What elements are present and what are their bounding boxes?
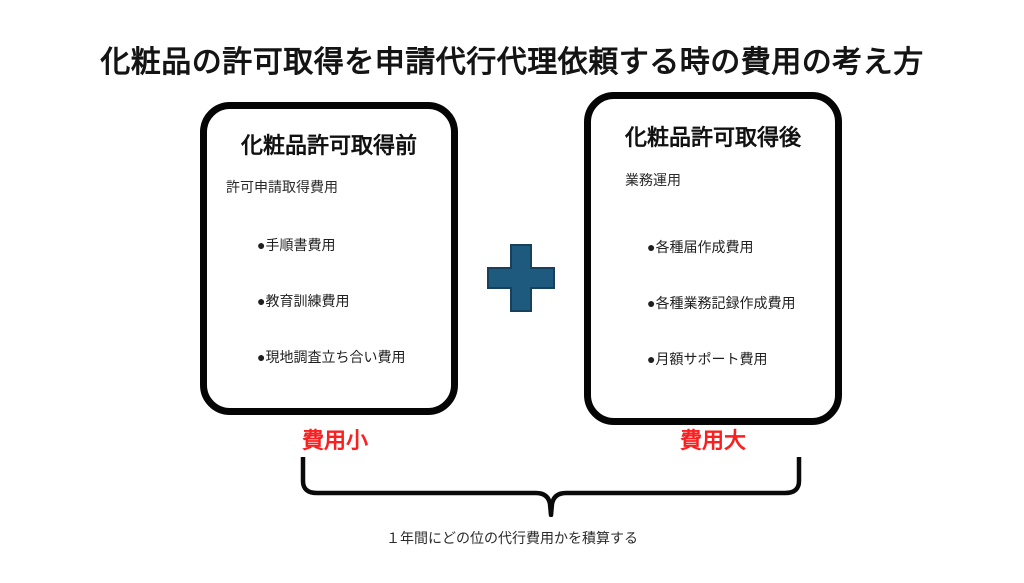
- panel-before-heading: 化粧品許可取得前: [207, 132, 451, 160]
- panel-before-subtitle: 許可申請取得費用: [226, 179, 338, 199]
- list-item: ●各種届作成費用: [591, 239, 835, 295]
- panel-after-approval: 化粧品許可取得後 業務運用 ●各種届作成費用 ●各種業務記録作成費用 ●月額サポ…: [584, 92, 842, 425]
- panel-after-heading: 化粧品許可取得後: [591, 124, 835, 152]
- page-title: 化粧品の許可取得を申請代行代理依頼する時の費用の考え方: [0, 44, 1024, 82]
- diagram-canvas: 化粧品の許可取得を申請代行代理依頼する時の費用の考え方 化粧品許可取得前 許可申…: [0, 0, 1024, 583]
- panel-after-subtitle: 業務運用: [625, 172, 681, 192]
- brace-caption: １年間にどの位の代行費用かを積算する: [0, 529, 1024, 551]
- list-item: ●各種業務記録作成費用: [591, 295, 835, 351]
- cost-label-large: 費用大: [618, 427, 808, 455]
- panel-after-bullet-list: ●各種届作成費用 ●各種業務記録作成費用 ●月額サポート費用: [591, 239, 835, 407]
- cost-label-small: 費用小: [240, 427, 430, 455]
- list-item: ●教育訓練費用: [207, 293, 451, 349]
- plus-icon: [485, 242, 557, 314]
- curly-brace-icon: [296, 455, 806, 517]
- list-item: ●手順書費用: [207, 237, 451, 293]
- panel-before-bullet-list: ●手順書費用 ●教育訓練費用 ●現地調査立ち合い費用: [207, 237, 451, 405]
- list-item: ●現地調査立ち合い費用: [207, 349, 451, 405]
- panel-before-approval: 化粧品許可取得前 許可申請取得費用 ●手順書費用 ●教育訓練費用 ●現地調査立ち…: [200, 102, 458, 415]
- list-item: ●月額サポート費用: [591, 351, 835, 407]
